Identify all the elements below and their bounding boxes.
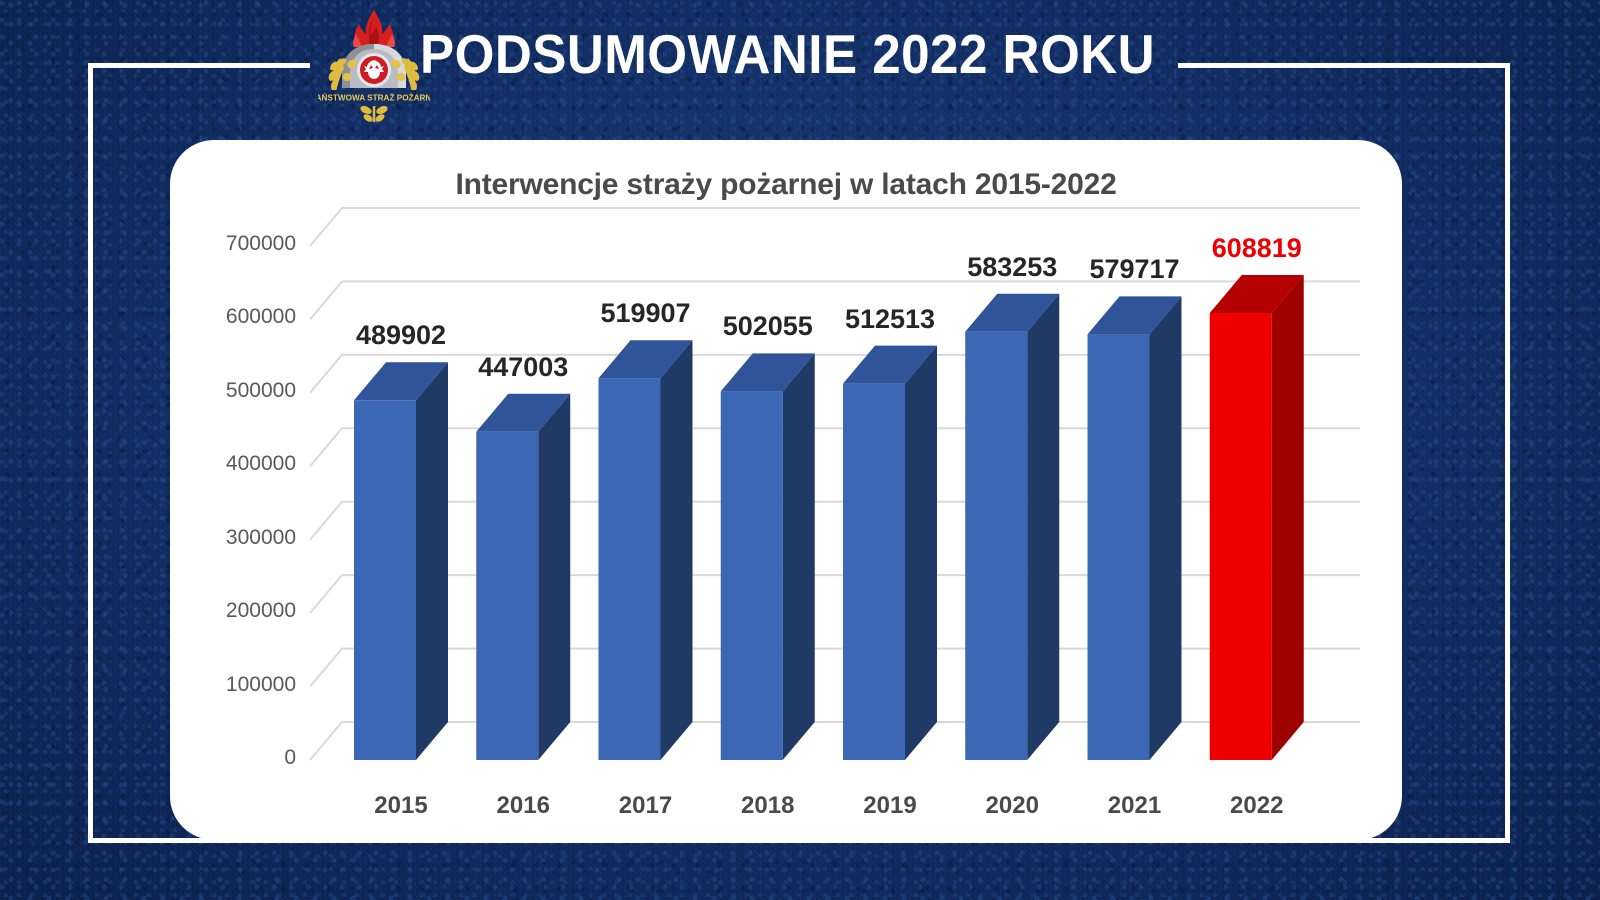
bar-side-face bbox=[661, 340, 693, 760]
page-title: PODSUMOWANIE 2022 ROKU bbox=[420, 22, 1155, 86]
bar-side-face bbox=[416, 362, 448, 760]
bar-2016 bbox=[476, 394, 570, 760]
bar-side-face bbox=[905, 346, 937, 760]
x-axis-tick-label-2022: 2022 bbox=[1197, 792, 1317, 820]
chart-gridlines bbox=[310, 208, 1360, 760]
x-axis-tick-label-2021: 2021 bbox=[1075, 792, 1195, 820]
bar-side-face bbox=[1272, 275, 1304, 760]
bar-front-face bbox=[599, 378, 661, 760]
y-axis-tick-label: 400000 bbox=[186, 452, 296, 476]
bar-value-label-2019: 512513 bbox=[805, 304, 975, 335]
y-axis-tick-label: 300000 bbox=[186, 526, 296, 550]
bar-2015 bbox=[354, 362, 448, 760]
bar-side-face bbox=[1027, 294, 1059, 760]
bar-2020 bbox=[965, 294, 1059, 760]
y-axis-tick-label: 200000 bbox=[186, 599, 296, 623]
bar-2022 bbox=[1210, 275, 1304, 760]
gridline bbox=[310, 722, 1360, 760]
y-axis-tick-label: 600000 bbox=[186, 305, 296, 329]
gridline bbox=[310, 649, 1360, 687]
bar-front-face bbox=[354, 400, 416, 760]
gridline bbox=[310, 428, 1360, 466]
bar-value-label-2016: 447003 bbox=[438, 352, 608, 383]
bar-2021 bbox=[1088, 296, 1182, 760]
bar-2018 bbox=[721, 353, 815, 760]
chart-bars bbox=[354, 275, 1304, 760]
gridline bbox=[310, 575, 1360, 613]
emblem-banner-text: PAŃSTWOWA STRAŻ POŻARNA bbox=[318, 93, 430, 103]
y-axis-tick-label: 500000 bbox=[186, 379, 296, 403]
bar-front-face bbox=[965, 332, 1027, 760]
panstwowa-straz-pozarna-emblem-icon: PAŃSTWOWA STRAŻ POŻARNA bbox=[318, 6, 430, 124]
slide: PAŃSTWOWA STRAŻ POŻARNA PODSUMOWANIE 202… bbox=[0, 0, 1600, 900]
slide-header: PAŃSTWOWA STRAŻ POŻARNA PODSUMOWANIE 202… bbox=[0, 0, 1600, 130]
x-axis-tick-label-2016: 2016 bbox=[463, 792, 583, 820]
bar-front-face bbox=[476, 432, 538, 760]
bar-front-face bbox=[1088, 334, 1150, 760]
gridline bbox=[310, 502, 1360, 540]
y-axis-tick-label: 700000 bbox=[186, 232, 296, 256]
x-axis-tick-label-2020: 2020 bbox=[952, 792, 1072, 820]
bar-side-face bbox=[783, 353, 815, 760]
chart-card: Interwencje straży pożarnej w latach 201… bbox=[170, 140, 1402, 840]
bar-front-face bbox=[1210, 313, 1272, 760]
bar-value-label-2022: 608819 bbox=[1172, 233, 1342, 264]
bar-side-face bbox=[1150, 296, 1182, 760]
frame-border-right bbox=[1505, 63, 1510, 843]
bar-front-face bbox=[721, 391, 783, 760]
bar-2017 bbox=[599, 340, 693, 760]
bar-2019 bbox=[843, 346, 937, 760]
bar-value-label-2015: 489902 bbox=[316, 320, 486, 351]
bar-front-face bbox=[843, 384, 905, 760]
y-axis-tick-label: 0 bbox=[186, 746, 296, 770]
y-axis-tick-label: 100000 bbox=[186, 673, 296, 697]
frame-border-left bbox=[88, 63, 93, 843]
x-axis-tick-label-2019: 2019 bbox=[830, 792, 950, 820]
x-axis-tick-label-2017: 2017 bbox=[586, 792, 706, 820]
x-axis-tick-label-2015: 2015 bbox=[341, 792, 461, 820]
bar-side-face bbox=[538, 394, 570, 760]
x-axis-tick-label-2018: 2018 bbox=[708, 792, 828, 820]
